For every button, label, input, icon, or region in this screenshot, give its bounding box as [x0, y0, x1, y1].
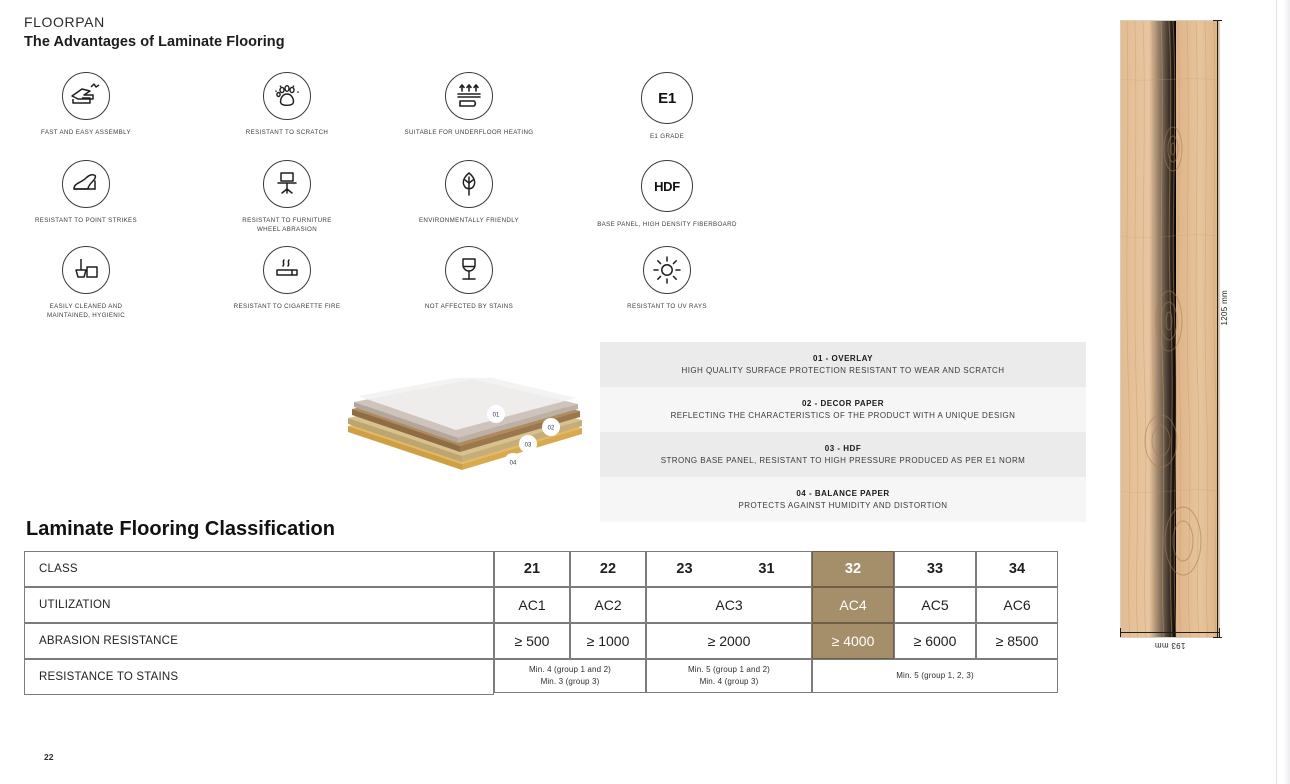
- cigarette-icon: [263, 246, 311, 294]
- office-chair-icon: [263, 160, 311, 208]
- plank-height-dimension-line: [1217, 20, 1218, 638]
- layer-desc: PROTECTS AGAINST HUMIDITY AND DISTORTION: [739, 501, 948, 510]
- page-number: 22: [44, 752, 53, 762]
- plank-height-label: 1205 mm: [1220, 290, 1229, 325]
- class-cell-21: 21: [494, 551, 570, 587]
- row-label-class: CLASS: [24, 551, 494, 587]
- class-cell-34: 34: [976, 551, 1058, 587]
- feature-e1-grade: E1 E1 GRADE: [572, 72, 762, 142]
- feature-label: FAST AND EASY ASSEMBLY: [0, 129, 181, 138]
- table-row: CLASS: [24, 551, 494, 587]
- feature-label: RESISTANT TO UV RAYS: [572, 303, 762, 312]
- class-cell-23: 23: [646, 551, 722, 587]
- feature-label: E1 GRADE: [572, 133, 762, 142]
- feature-environmentally-friendly: ENVIRONMENTALLY FRIENDLY: [374, 160, 564, 226]
- utilization-cell-ac2: AC2: [570, 587, 646, 623]
- laminate-layers-illustration: 01 02 03 04: [340, 378, 590, 473]
- layer-item-overlay: 01 - OVERLAY HIGH QUALITY SURFACE PROTEC…: [600, 342, 1086, 387]
- stains-cell-group-a: Min. 4 (group 1 and 2) Min. 3 (group 3): [494, 659, 646, 693]
- underfloor-heating-icon: [445, 72, 493, 120]
- feature-suitable-for-underfloor-heating: SUITABLE FOR UNDERFLOOR HEATING: [374, 72, 564, 138]
- svg-text:01: 01: [493, 412, 500, 418]
- feature-row: EASILY CLEANED AND MAINTAINED, HYGIENIC …: [24, 246, 744, 332]
- feature-not-affected-by-stains: NOT AFFECTED BY STAINS: [374, 246, 564, 312]
- layer-desc: STRONG BASE PANEL, RESISTANT TO HIGH PRE…: [661, 456, 1026, 465]
- page-header: FLOORPAN The Advantages of Laminate Floo…: [24, 14, 285, 50]
- abrasion-cell-6000: ≥ 6000: [894, 623, 976, 659]
- feature-label: ENVIRONMENTALLY FRIENDLY: [374, 217, 564, 226]
- layer-item-hdf: 03 - HDF STRONG BASE PANEL, RESISTANT TO…: [600, 432, 1086, 477]
- layer-desc: HIGH QUALITY SURFACE PROTECTION RESISTAN…: [681, 366, 1004, 375]
- abrasion-cell-8500: ≥ 8500: [976, 623, 1058, 659]
- class-cell-33: 33: [894, 551, 976, 587]
- classification-data: 21 22 23 31 32 33 34 AC1 AC2 AC3 AC4 AC5…: [494, 551, 1058, 693]
- feature-label: BASE PANEL, HIGH DENSITY FIBERBOARD: [572, 221, 762, 230]
- click-lock-assembly-icon: [62, 72, 110, 120]
- feature-fast-and-easy-assembly: FAST AND EASY ASSEMBLY: [0, 72, 181, 138]
- feature-resistant-to-point-strikes: RESISTANT TO POINT STRIKES: [0, 160, 181, 226]
- page-right-gutter: [1276, 0, 1290, 784]
- wine-glass-icon: [445, 246, 493, 294]
- layer-title: 01 - OVERLAY: [813, 354, 873, 363]
- table-row-abrasion: ≥ 500 ≥ 1000 ≥ 2000 ≥ 4000 ≥ 6000 ≥ 8500: [494, 623, 1058, 659]
- layer-description-list: 01 - OVERLAY HIGH QUALITY SURFACE PROTEC…: [600, 342, 1086, 522]
- plank-width-label: 193 mm: [1120, 641, 1220, 650]
- table-row: RESISTANCE TO STAINS: [24, 659, 494, 695]
- feature-icon-grid: FAST AND EASY ASSEMBLY: [24, 72, 744, 332]
- feature-label: SUITABLE FOR UNDERFLOOR HEATING: [374, 129, 564, 138]
- e1-grade-badge-icon: E1: [641, 72, 693, 124]
- row-label-abrasion-resistance: ABRASION RESISTANCE: [24, 623, 494, 659]
- feature-label: NOT AFFECTED BY STAINS: [374, 303, 564, 312]
- table-row: UTILIZATION: [24, 587, 494, 623]
- leaf-eco-icon: [445, 160, 493, 208]
- feature-label: EASILY CLEANED AND MAINTAINED, HYGIENIC: [0, 303, 181, 321]
- table-row-utilization: AC1 AC2 AC3 AC4 AC5 AC6: [494, 587, 1058, 623]
- table-row: ABRASION RESISTANCE: [24, 623, 494, 659]
- paw-print-icon: [263, 72, 311, 120]
- feature-resistant-to-furniture-wheel-abrasion: RESISTANT TO FURNITURE WHEEL ABRASION: [192, 160, 382, 235]
- feature-resistant-to-cigarette-fire: RESISTANT TO CIGARETTE FIRE: [192, 246, 382, 312]
- classification-row-labels: CLASS UTILIZATION ABRASION RESISTANCE RE…: [24, 551, 494, 695]
- document-page: FLOORPAN The Advantages of Laminate Floo…: [0, 0, 1290, 784]
- abrasion-cell-500: ≥ 500: [494, 623, 570, 659]
- class-cell-22: 22: [570, 551, 646, 587]
- feature-label: RESISTANT TO CIGARETTE FIRE: [192, 303, 382, 312]
- sun-uv-icon: [643, 246, 691, 294]
- svg-text:03: 03: [525, 442, 532, 448]
- svg-text:02: 02: [548, 425, 555, 431]
- layer-item-decor-paper: 02 - DECOR PAPER REFLECTING THE CHARACTE…: [600, 387, 1086, 432]
- hdf-badge-label: HDF: [654, 179, 680, 194]
- class-cell-31: 31: [722, 551, 812, 587]
- brand-name: FLOORPAN: [24, 14, 285, 30]
- utilization-cell-ac5: AC5: [894, 587, 976, 623]
- plank-dimension-panel: 1205 mm 193 mm: [1112, 0, 1258, 784]
- stains-cell-group-b: Min. 5 (group 1 and 2) Min. 4 (group 3): [646, 659, 812, 693]
- mop-cleaning-icon: [62, 246, 110, 294]
- feature-base-panel-hdf: HDF BASE PANEL, HIGH DENSITY FIBERBOARD: [572, 160, 762, 230]
- feature-label: RESISTANT TO SCRATCH: [192, 129, 382, 138]
- layer-desc: REFLECTING THE CHARACTERISTICS OF THE PR…: [671, 411, 1016, 420]
- classification-title: Laminate Flooring Classification: [26, 518, 335, 541]
- laminate-plank-image: [1120, 20, 1220, 638]
- abrasion-cell-2000: ≥ 2000: [646, 623, 812, 659]
- utilization-cell-ac1: AC1: [494, 587, 570, 623]
- class-cell-32: 32: [812, 551, 894, 587]
- stains-cell-group-c: Min. 5 (group 1, 2, 3): [812, 659, 1058, 693]
- layer-title: 04 - BALANCE PAPER: [796, 489, 889, 498]
- classification-table: CLASS UTILIZATION ABRASION RESISTANCE RE…: [24, 551, 1058, 698]
- feature-row: FAST AND EASY ASSEMBLY: [24, 72, 744, 160]
- layer-title: 03 - HDF: [825, 444, 861, 453]
- feature-resistant-to-uv-rays: RESISTANT TO UV RAYS: [572, 246, 762, 312]
- feature-label: RESISTANT TO POINT STRIKES: [0, 217, 181, 226]
- e1-badge-label: E1: [658, 90, 676, 107]
- layer-title: 02 - DECOR PAPER: [802, 399, 884, 408]
- feature-resistant-to-scratch: RESISTANT TO SCRATCH: [192, 72, 382, 138]
- high-heel-shoe-icon: [62, 160, 110, 208]
- feature-easily-cleaned-hygienic: EASILY CLEANED AND MAINTAINED, HYGIENIC: [0, 246, 181, 321]
- utilization-cell-ac4: AC4: [812, 587, 894, 623]
- plank-width-dimension-line: [1120, 632, 1220, 633]
- hdf-badge-icon: HDF: [641, 160, 693, 212]
- feature-label: RESISTANT TO FURNITURE WHEEL ABRASION: [192, 217, 382, 235]
- table-row-class: 21 22 23 31 32 33 34: [494, 551, 1058, 587]
- svg-text:04: 04: [510, 460, 517, 466]
- table-row-stains: Min. 4 (group 1 and 2) Min. 3 (group 3) …: [494, 659, 1058, 693]
- feature-row: RESISTANT TO POINT STRIKES RESISTANT TO …: [24, 160, 744, 246]
- utilization-cell-ac3: AC3: [646, 587, 812, 623]
- abrasion-cell-4000: ≥ 4000: [812, 623, 894, 659]
- row-label-utilization: UTILIZATION: [24, 587, 494, 623]
- abrasion-cell-1000: ≥ 1000: [570, 623, 646, 659]
- layer-item-balance-paper: 04 - BALANCE PAPER PROTECTS AGAINST HUMI…: [600, 477, 1086, 522]
- page-edge-shadow: [1284, 0, 1290, 784]
- row-label-resistance-to-stains: RESISTANCE TO STAINS: [24, 659, 494, 695]
- utilization-cell-ac6: AC6: [976, 587, 1058, 623]
- page-title: The Advantages of Laminate Flooring: [24, 34, 285, 50]
